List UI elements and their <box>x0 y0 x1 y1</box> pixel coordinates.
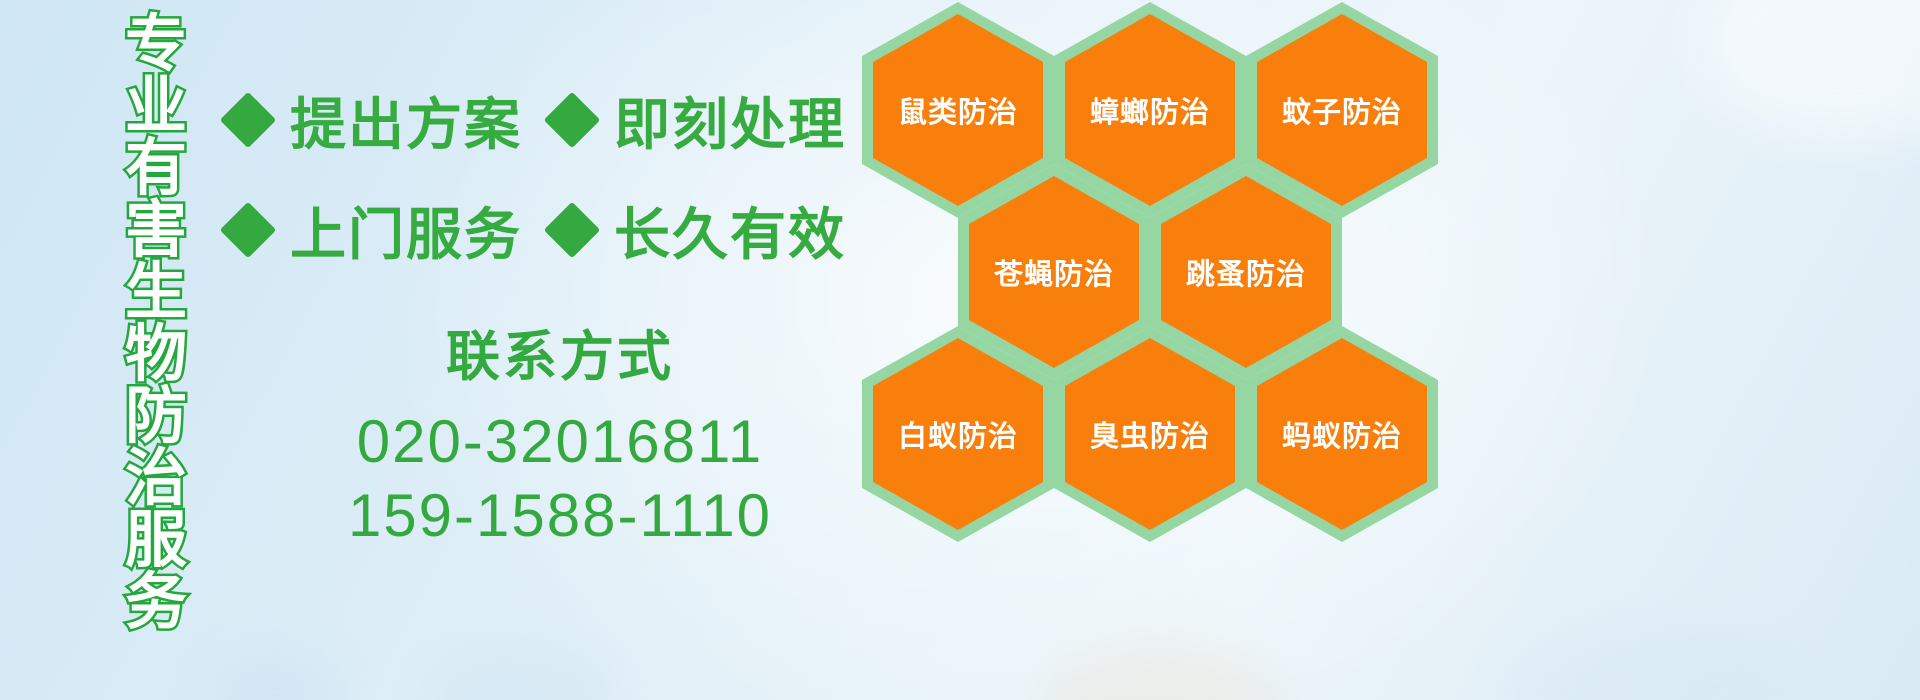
diamond-icon <box>220 202 277 259</box>
phone-number-landline[interactable]: 020-32016811 <box>300 405 820 479</box>
feature-item: 长久有效 <box>552 190 876 271</box>
vertical-slogan-char: 治 <box>125 448 187 508</box>
hexagon-inner: 蚂蚁防治 <box>1257 338 1427 530</box>
contact-block: 联系方式 020-32016811 159-1588-1110 <box>300 312 820 553</box>
service-label: 蚊子防治 <box>1282 89 1402 131</box>
background-blob <box>430 645 620 700</box>
hexagon-shape: 白蚁防治 <box>862 326 1054 542</box>
vertical-slogan-char: 生 <box>125 262 187 322</box>
vertical-slogan-char: 防 <box>125 386 187 446</box>
service-hex-ant[interactable]: 蚂蚁防治 <box>1246 326 1438 542</box>
vertical-slogan: 专 业 有 害 生 物 防 治 服 务 <box>104 14 208 574</box>
service-label: 蚂蚁防治 <box>1282 413 1402 455</box>
phone-number-mobile[interactable]: 159-1588-1110 <box>300 479 820 553</box>
feature-label: 即刻处理 <box>614 80 846 161</box>
feature-label: 提出方案 <box>290 80 522 161</box>
service-hex-termite[interactable]: 白蚁防治 <box>862 326 1054 542</box>
service-hex-bedbug[interactable]: 臭虫防治 <box>1054 326 1246 542</box>
background-blob <box>1500 620 1800 700</box>
vertical-slogan-char: 有 <box>125 138 187 198</box>
hexagon-shape: 蚂蚁防治 <box>1246 326 1438 542</box>
vertical-slogan-char: 专 <box>125 14 187 74</box>
feature-row: 提出方案 即刻处理 <box>228 78 868 162</box>
hexagon-inner: 白蚁防治 <box>873 338 1043 530</box>
diamond-icon <box>220 92 277 149</box>
feature-label: 上门服务 <box>290 190 522 271</box>
diamond-icon <box>544 92 601 149</box>
feature-item: 上门服务 <box>228 190 552 271</box>
contact-label: 联系方式 <box>300 312 820 391</box>
feature-row: 上门服务 长久有效 <box>228 188 868 272</box>
background-blob <box>210 650 340 700</box>
service-label: 跳蚤防治 <box>1186 251 1306 293</box>
diamond-icon <box>544 202 601 259</box>
service-label: 臭虫防治 <box>1090 413 1210 455</box>
feature-list: 提出方案 即刻处理 上门服务 长久有效 <box>228 78 868 298</box>
service-label: 白蚁防治 <box>898 413 1018 455</box>
banner-root: 专 业 有 害 生 物 防 治 服 务 提出方案 即刻处理 上门服务 <box>0 0 1920 700</box>
feature-label: 长久有效 <box>614 190 846 271</box>
vertical-slogan-char: 物 <box>125 324 187 384</box>
service-label: 鼠类防治 <box>898 89 1018 131</box>
service-label: 苍蝇防治 <box>994 251 1114 293</box>
feature-item: 即刻处理 <box>552 80 876 161</box>
vertical-slogan-char: 害 <box>125 200 187 260</box>
service-honeycomb: 鼠类防治 蟑螂防治 蚊子防治 苍蝇防治 <box>862 0 1462 700</box>
hexagon-inner: 臭虫防治 <box>1065 338 1235 530</box>
feature-item: 提出方案 <box>228 80 552 161</box>
vertical-slogan-char: 服 <box>125 510 187 570</box>
service-label: 蟑螂防治 <box>1090 89 1210 131</box>
vertical-slogan-char: 务 <box>125 572 187 632</box>
background-blob <box>1700 0 1920 140</box>
vertical-slogan-char: 业 <box>125 76 187 136</box>
hexagon-shape: 臭虫防治 <box>1054 326 1246 542</box>
